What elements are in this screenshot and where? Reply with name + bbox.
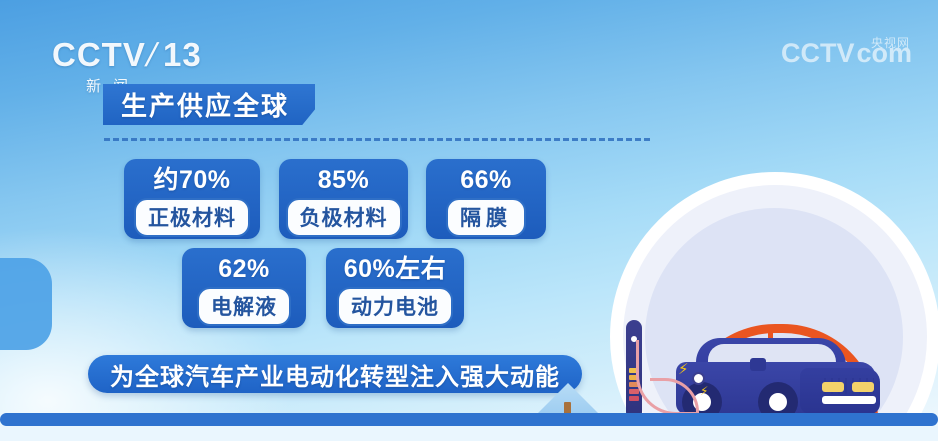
stat-label: 动力电池 xyxy=(351,296,439,319)
stat-percentage: 66% xyxy=(460,166,512,194)
ev-charging-illustration: ⚡ ⚡ xyxy=(600,300,938,426)
logo-main-row: CCTV/13 xyxy=(52,38,212,72)
decorative-left-blob xyxy=(0,258,52,350)
lightning-bolt-icon: ⚡ xyxy=(678,360,689,378)
stat-card: 62% 电解液 xyxy=(182,248,306,328)
stat-label: 电解液 xyxy=(211,296,277,319)
car-headlight xyxy=(852,382,874,392)
ground-bar xyxy=(0,413,938,426)
stat-percentage: 85% xyxy=(318,166,370,194)
stat-label: 正极材料 xyxy=(148,207,236,230)
stat-card: 66% 隔膜 xyxy=(426,159,546,239)
stat-label-pill: 动力电池 xyxy=(337,287,453,326)
watermark-cctv-text: CCTV xyxy=(781,40,855,67)
stat-label-pill: 隔膜 xyxy=(446,198,526,237)
ground-strip xyxy=(0,426,938,441)
infographic-slide: CCTV/13 新闻 央视网 CCTV com 生产供应全球 约70% 正极材料… xyxy=(0,0,938,441)
watermark-chinese-label: 央视网 xyxy=(871,34,910,51)
section-title-banner: 生产供应全球 xyxy=(103,84,315,125)
stat-label-pill: 负极材料 xyxy=(286,198,402,237)
stat-label-pill: 正极材料 xyxy=(134,198,250,237)
stat-label-pill: 电解液 xyxy=(197,287,291,326)
stat-percentage: 60%左右 xyxy=(344,255,447,283)
footer-banner: 为全球汽车产业电动化转型注入强大动能 xyxy=(88,355,582,393)
stat-percentage: 约70% xyxy=(153,166,230,194)
stat-card: 85% 负极材料 xyxy=(279,159,408,239)
logo-cctv-text: CCTV xyxy=(52,36,146,73)
stat-card: 约70% 正极材料 xyxy=(124,159,260,239)
stat-label: 负极材料 xyxy=(300,207,388,230)
car-mirror xyxy=(750,358,766,371)
page-title: 生产供应全球 xyxy=(121,86,289,123)
cctv-com-watermark: 央视网 CCTV com xyxy=(781,40,912,67)
footer-banner-text: 为全球汽车产业电动化转型注入强大动能 xyxy=(110,357,560,392)
lightning-bolt-icon: ⚡ xyxy=(700,384,708,398)
dashed-divider xyxy=(104,138,650,141)
car-bumper xyxy=(822,396,876,404)
stat-percentage: 62% xyxy=(218,255,270,283)
stat-card: 60%左右 动力电池 xyxy=(326,248,464,328)
car-headlight xyxy=(822,382,844,392)
stat-label: 隔膜 xyxy=(460,207,512,230)
logo-channel-number: 13 xyxy=(162,38,203,72)
